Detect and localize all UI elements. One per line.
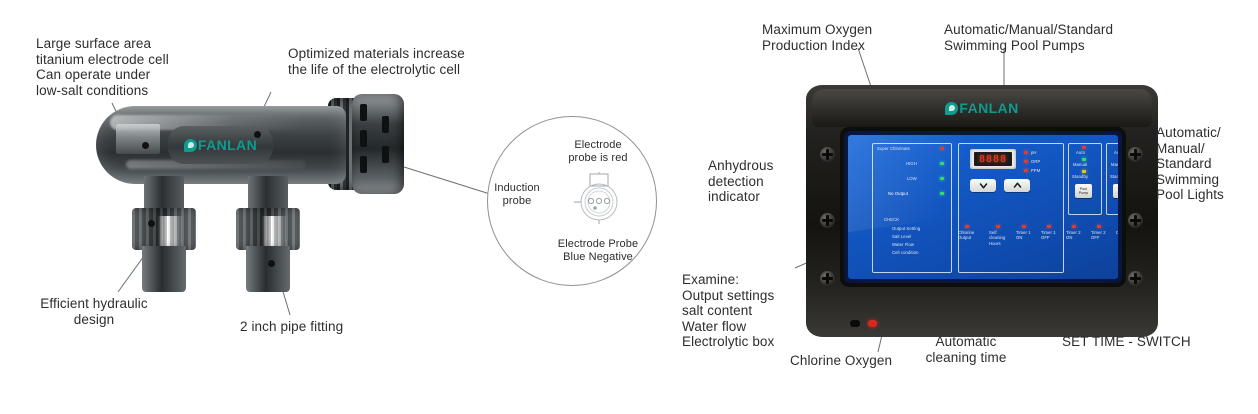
- screw-icon: [1128, 147, 1143, 162]
- screw-icon: [1128, 213, 1143, 228]
- label-pump-standby: Standby: [1072, 174, 1088, 179]
- led-timer2-on: [1072, 225, 1076, 228]
- controller-brand-logo: FANLAN: [945, 100, 1018, 116]
- callout-electrode-probe-blue: Electrode Probe Blue Negative: [534, 238, 662, 264]
- callout-auto-cleaning-time: Automatic cleaning time: [902, 334, 1030, 365]
- label-check-title: CHECK: [884, 217, 899, 222]
- up-button[interactable]: [1004, 179, 1030, 192]
- brand-logo: FANLAN: [184, 137, 257, 153]
- union-fitting-left: [132, 176, 196, 292]
- callout-pipe-fitting: 2 inch pipe fitting: [240, 319, 420, 335]
- led-ppm: [1024, 169, 1028, 172]
- led-super-chlorinate: [940, 147, 944, 150]
- screw-icon: [820, 147, 835, 162]
- led-pump-manual: [1082, 158, 1086, 161]
- callout-anhydrous-indicator: Anhydrous detection indicator: [708, 158, 804, 205]
- callout-max-oxygen-index: Maximum Oxygen Production Index: [762, 22, 912, 53]
- pool-light-button[interactable]: Pool Light: [1113, 184, 1118, 198]
- led-timer1-on: [1022, 225, 1026, 228]
- label-low: LOW: [907, 176, 917, 181]
- probe-connector-icon: [574, 172, 624, 224]
- led-self-cleaning: [996, 225, 1000, 228]
- label-check-salt-level: Salt Level: [892, 234, 911, 239]
- controller-top-band: FANLAN: [812, 89, 1152, 127]
- label-pump-manual: Manual: [1073, 162, 1087, 167]
- callout-titanium-electrode: Large surface area titanium electrode ce…: [36, 36, 246, 98]
- display-digits: 8888: [979, 154, 1007, 165]
- pool-pump-button[interactable]: Pool Pump: [1075, 184, 1092, 198]
- callout-induction-probe: Induction probe: [484, 182, 550, 208]
- callout-set-time-switch: SET TIME - SWITCH: [1062, 334, 1212, 350]
- led-pump-standby: [1082, 170, 1086, 173]
- screw-icon: [820, 213, 835, 228]
- label-ppm: PPM: [1031, 168, 1040, 173]
- chevron-down-icon: [979, 181, 988, 190]
- union-fitting-right: [236, 176, 300, 292]
- leaf-icon: [945, 102, 958, 115]
- cell-cap-rim: [352, 94, 404, 194]
- label-check-output-setting: Output Setting: [892, 226, 920, 231]
- label-light-manual: Manual: [1111, 162, 1118, 167]
- led-no-output: [940, 192, 944, 195]
- callout-dot-hydraulic: [148, 220, 155, 227]
- display-bezel: Super Chlorinate HIGH LOW No Output CHEC…: [844, 131, 1122, 283]
- callout-electrode-probe-red: Electrode probe is red: [552, 139, 644, 165]
- screw-icon: [1128, 271, 1143, 286]
- led-high: [940, 162, 944, 165]
- screw-icon: [820, 271, 835, 286]
- led-low: [940, 177, 944, 180]
- cell-housing: FANLAN: [96, 106, 346, 184]
- label-check-water-flow: Water Flow: [892, 242, 914, 247]
- electrolytic-cell-image: FANLAN: [96, 104, 436, 304]
- titanium-plate: [116, 124, 160, 154]
- callout-dot-titanium: [142, 142, 149, 149]
- callout-examine-list: Examine: Output settings salt content Wa…: [682, 272, 818, 350]
- callout-pool-pumps-mode: Automatic/Manual/Standard Swimming Pool …: [944, 22, 1184, 53]
- callout-dot-pipe: [268, 260, 275, 267]
- digital-display: 8888: [970, 149, 1016, 169]
- label-timer2-on: Timer 2 ON: [1066, 230, 1081, 241]
- chevron-up-icon: [1013, 181, 1022, 190]
- callout-dot-materials: [254, 131, 261, 138]
- label-timer1-off: Timer 1 OFF: [1041, 230, 1056, 241]
- label-orp: ORP: [1031, 159, 1040, 164]
- label-pump-auto: Auto: [1076, 150, 1085, 155]
- label-timer1-on: Timer 1 ON: [1016, 230, 1031, 241]
- label-self-cleaning: Self cleaning Hours: [989, 230, 1005, 246]
- label-timer2-off: Timer 2 OFF: [1091, 230, 1106, 241]
- label-ph: pH: [1031, 150, 1037, 155]
- label-chlorine-output: Chlorine Output: [958, 230, 974, 241]
- led-chlorine-output: [965, 225, 969, 228]
- callout-pool-lights-mode: Automatic/ Manual/ Standard Swimming Poo…: [1156, 125, 1258, 203]
- label-no-output: No Output: [888, 191, 908, 196]
- led-timer2-off: [1097, 225, 1101, 228]
- label-clock: Clock: [1116, 230, 1118, 235]
- label-high: HIGH: [906, 161, 917, 166]
- callout-hydraulic-design: Efficient hydraulic design: [14, 296, 174, 327]
- label-light-auto: Auto: [1114, 150, 1118, 155]
- callout-optimized-materials: Optimized materials increase the life of…: [288, 46, 538, 77]
- power-socket: [850, 320, 860, 327]
- label-super-chlorinate: Super Chlorinate: [877, 146, 910, 151]
- power-indicator: [868, 320, 877, 327]
- led-ph: [1024, 151, 1028, 154]
- control-panel: Super Chlorinate HIGH LOW No Output CHEC…: [848, 135, 1118, 279]
- down-button[interactable]: [970, 179, 996, 192]
- led-pump-auto: [1082, 146, 1086, 149]
- label-check-cell-condition: Cell condition: [892, 250, 919, 255]
- label-light-standby: Standby: [1110, 174, 1118, 179]
- led-orp: [1024, 160, 1028, 163]
- controller-image: FANLAN Super Chlorinate HIGH LOW No Outp…: [806, 85, 1158, 337]
- leaf-icon: [184, 139, 197, 152]
- led-timer1-off: [1047, 225, 1051, 228]
- diagram-canvas: FANLAN FANLAN: [0, 0, 1258, 414]
